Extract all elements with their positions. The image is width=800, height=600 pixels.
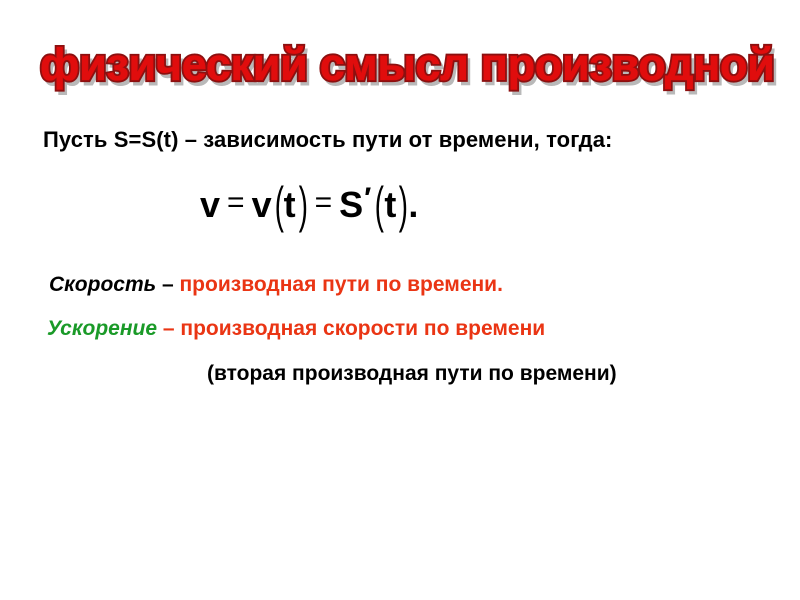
title-fill-layer: физический смысл производной (40, 36, 770, 94)
definition-acceleration-dash: – (163, 317, 175, 340)
definition-speed: Скорость – производная пути по времени. (49, 273, 503, 297)
formula-paren-open-2: ( (375, 176, 382, 234)
formula-token-v1: v (200, 184, 220, 226)
formula-token-s: S (339, 184, 363, 226)
definition-speed-dash: – (162, 273, 174, 296)
acceleration-note: (вторая производная пути по времени) (207, 362, 617, 386)
formula-paren-open-1: ( (274, 176, 281, 234)
formula-token-t2: t (384, 184, 396, 226)
definition-acceleration: Ускорение – производная скорости по врем… (47, 317, 545, 341)
slide-title: физический смысл производной физический … (40, 36, 770, 98)
slide-canvas: физический смысл производной физический … (0, 0, 800, 600)
formula-token-v2: v (252, 184, 272, 226)
formula-equation: v = v ( t ) = S ′ ( t ) . (200, 176, 418, 234)
formula-paren-close-2: ) (399, 176, 406, 234)
definition-speed-body: производная пути по времени. (180, 273, 503, 296)
formula-token-equals-1: = (227, 186, 245, 220)
formula-prime-mark: ′ (364, 182, 371, 216)
definition-acceleration-body: производная скорости по времени (180, 317, 545, 340)
definition-acceleration-term: Ускорение (47, 317, 157, 340)
premise-text: Пусть S=S(t) – зависимость пути от време… (43, 127, 612, 153)
formula-token-equals-2: = (315, 186, 333, 220)
formula-period: . (408, 184, 418, 226)
formula-paren-close-1: ) (298, 176, 305, 234)
definition-speed-term: Скорость (49, 273, 156, 296)
formula-token-t1: t (284, 184, 296, 226)
